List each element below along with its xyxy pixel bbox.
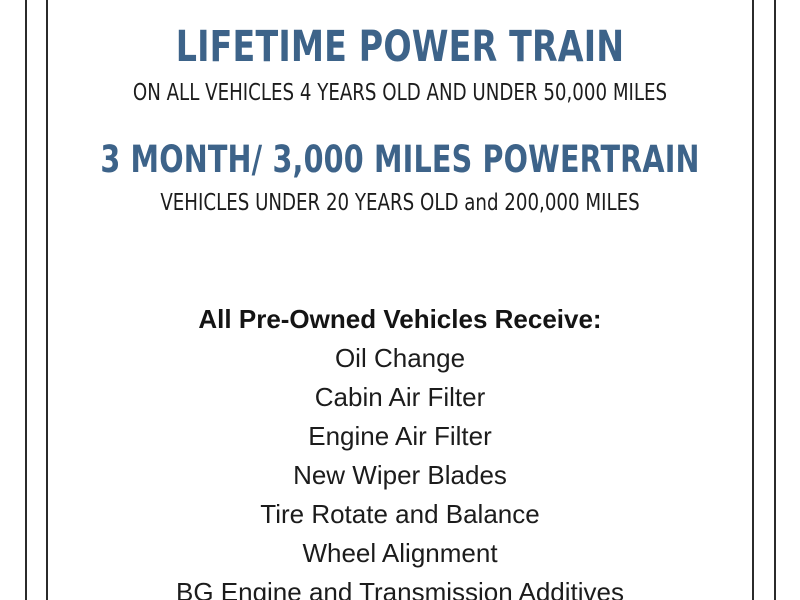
services-heading: All Pre-Owned Vehicles Receive: <box>48 300 752 339</box>
border-rule-right-outer <box>774 0 776 600</box>
flyer-content: LIFETIME POWER TRAIN ON ALL VEHICLES 4 Y… <box>48 0 752 600</box>
service-item: Engine Air Filter <box>48 417 752 456</box>
service-item: New Wiper Blades <box>48 456 752 495</box>
service-item: Oil Change <box>48 339 752 378</box>
offer-subline-3month-powertrain: VEHICLES UNDER 20 YEARS OLD and 200,000 … <box>90 192 710 215</box>
service-item: Cabin Air Filter <box>48 378 752 417</box>
offer-subline-lifetime-powertrain: ON ALL VEHICLES 4 YEARS OLD AND UNDER 50… <box>90 82 710 105</box>
service-item: Wheel Alignment <box>48 534 752 573</box>
border-rule-right-inner <box>752 0 754 600</box>
offer-headline-3month-powertrain: 3 MONTH/ 3,000 MILES POWERTRAIN <box>97 141 702 178</box>
offer-headline-lifetime-powertrain: LIFETIME POWER TRAIN <box>97 26 702 69</box>
service-item: Tire Rotate and Balance <box>48 495 752 534</box>
services-section: All Pre-Owned Vehicles Receive: Oil Chan… <box>48 300 752 600</box>
flyer-page: LIFETIME POWER TRAIN ON ALL VEHICLES 4 Y… <box>0 0 800 600</box>
service-item: BG Engine and Transmission Additives <box>48 573 752 600</box>
border-rule-left-outer <box>25 0 27 600</box>
